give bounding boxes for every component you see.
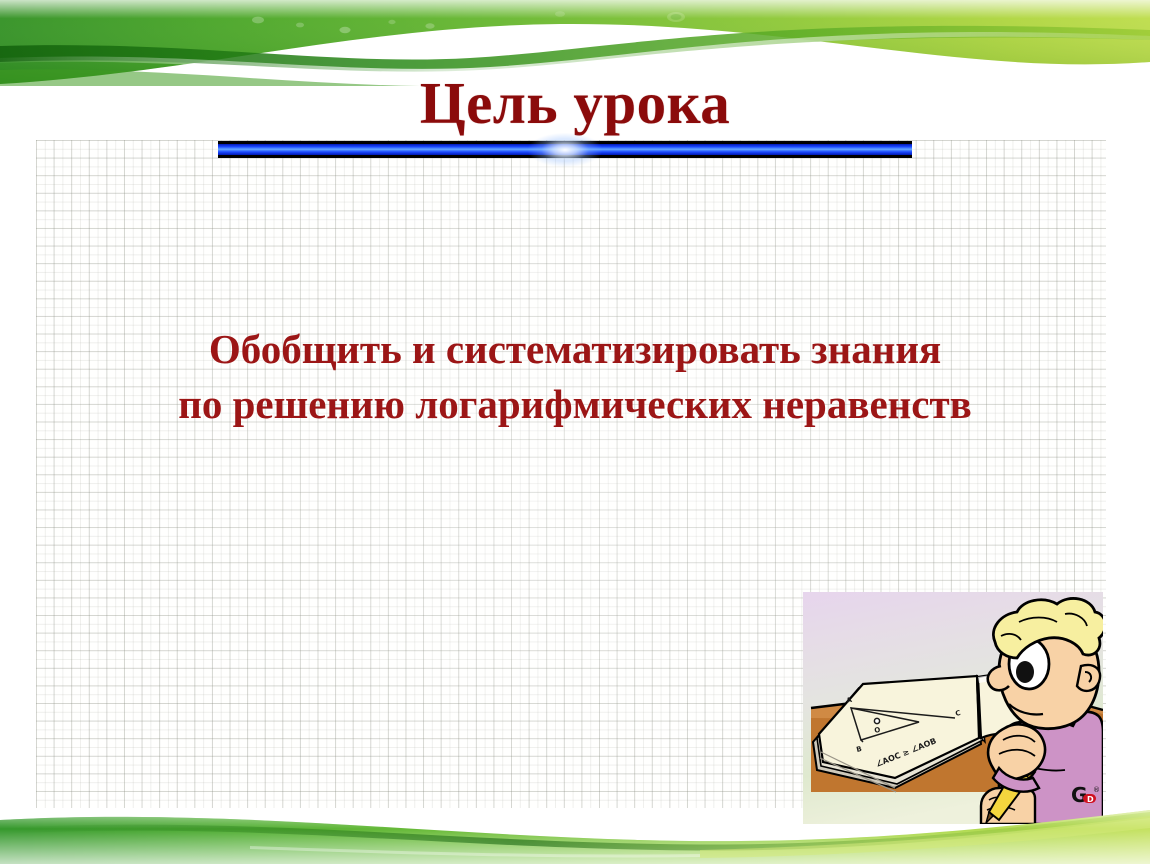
underline-glow-highlight <box>528 133 602 167</box>
svg-text:D: D <box>1087 795 1094 804</box>
lesson-goal-text: Обобщить и систематизировать знания по р… <box>0 322 1150 432</box>
thinking-student-illustration: A C O B ∠AOC ≥ ∠AOB <box>803 592 1103 824</box>
title-block: Цель урока <box>0 70 1150 136</box>
page-title: Цель урока <box>0 70 1150 136</box>
title-underline-bar <box>218 141 912 158</box>
water-droplets <box>252 11 685 33</box>
slide-canvas: Цель урока Обобщить и систематизировать … <box>0 0 1150 864</box>
watermark-registered-mark: ® <box>1093 786 1100 794</box>
